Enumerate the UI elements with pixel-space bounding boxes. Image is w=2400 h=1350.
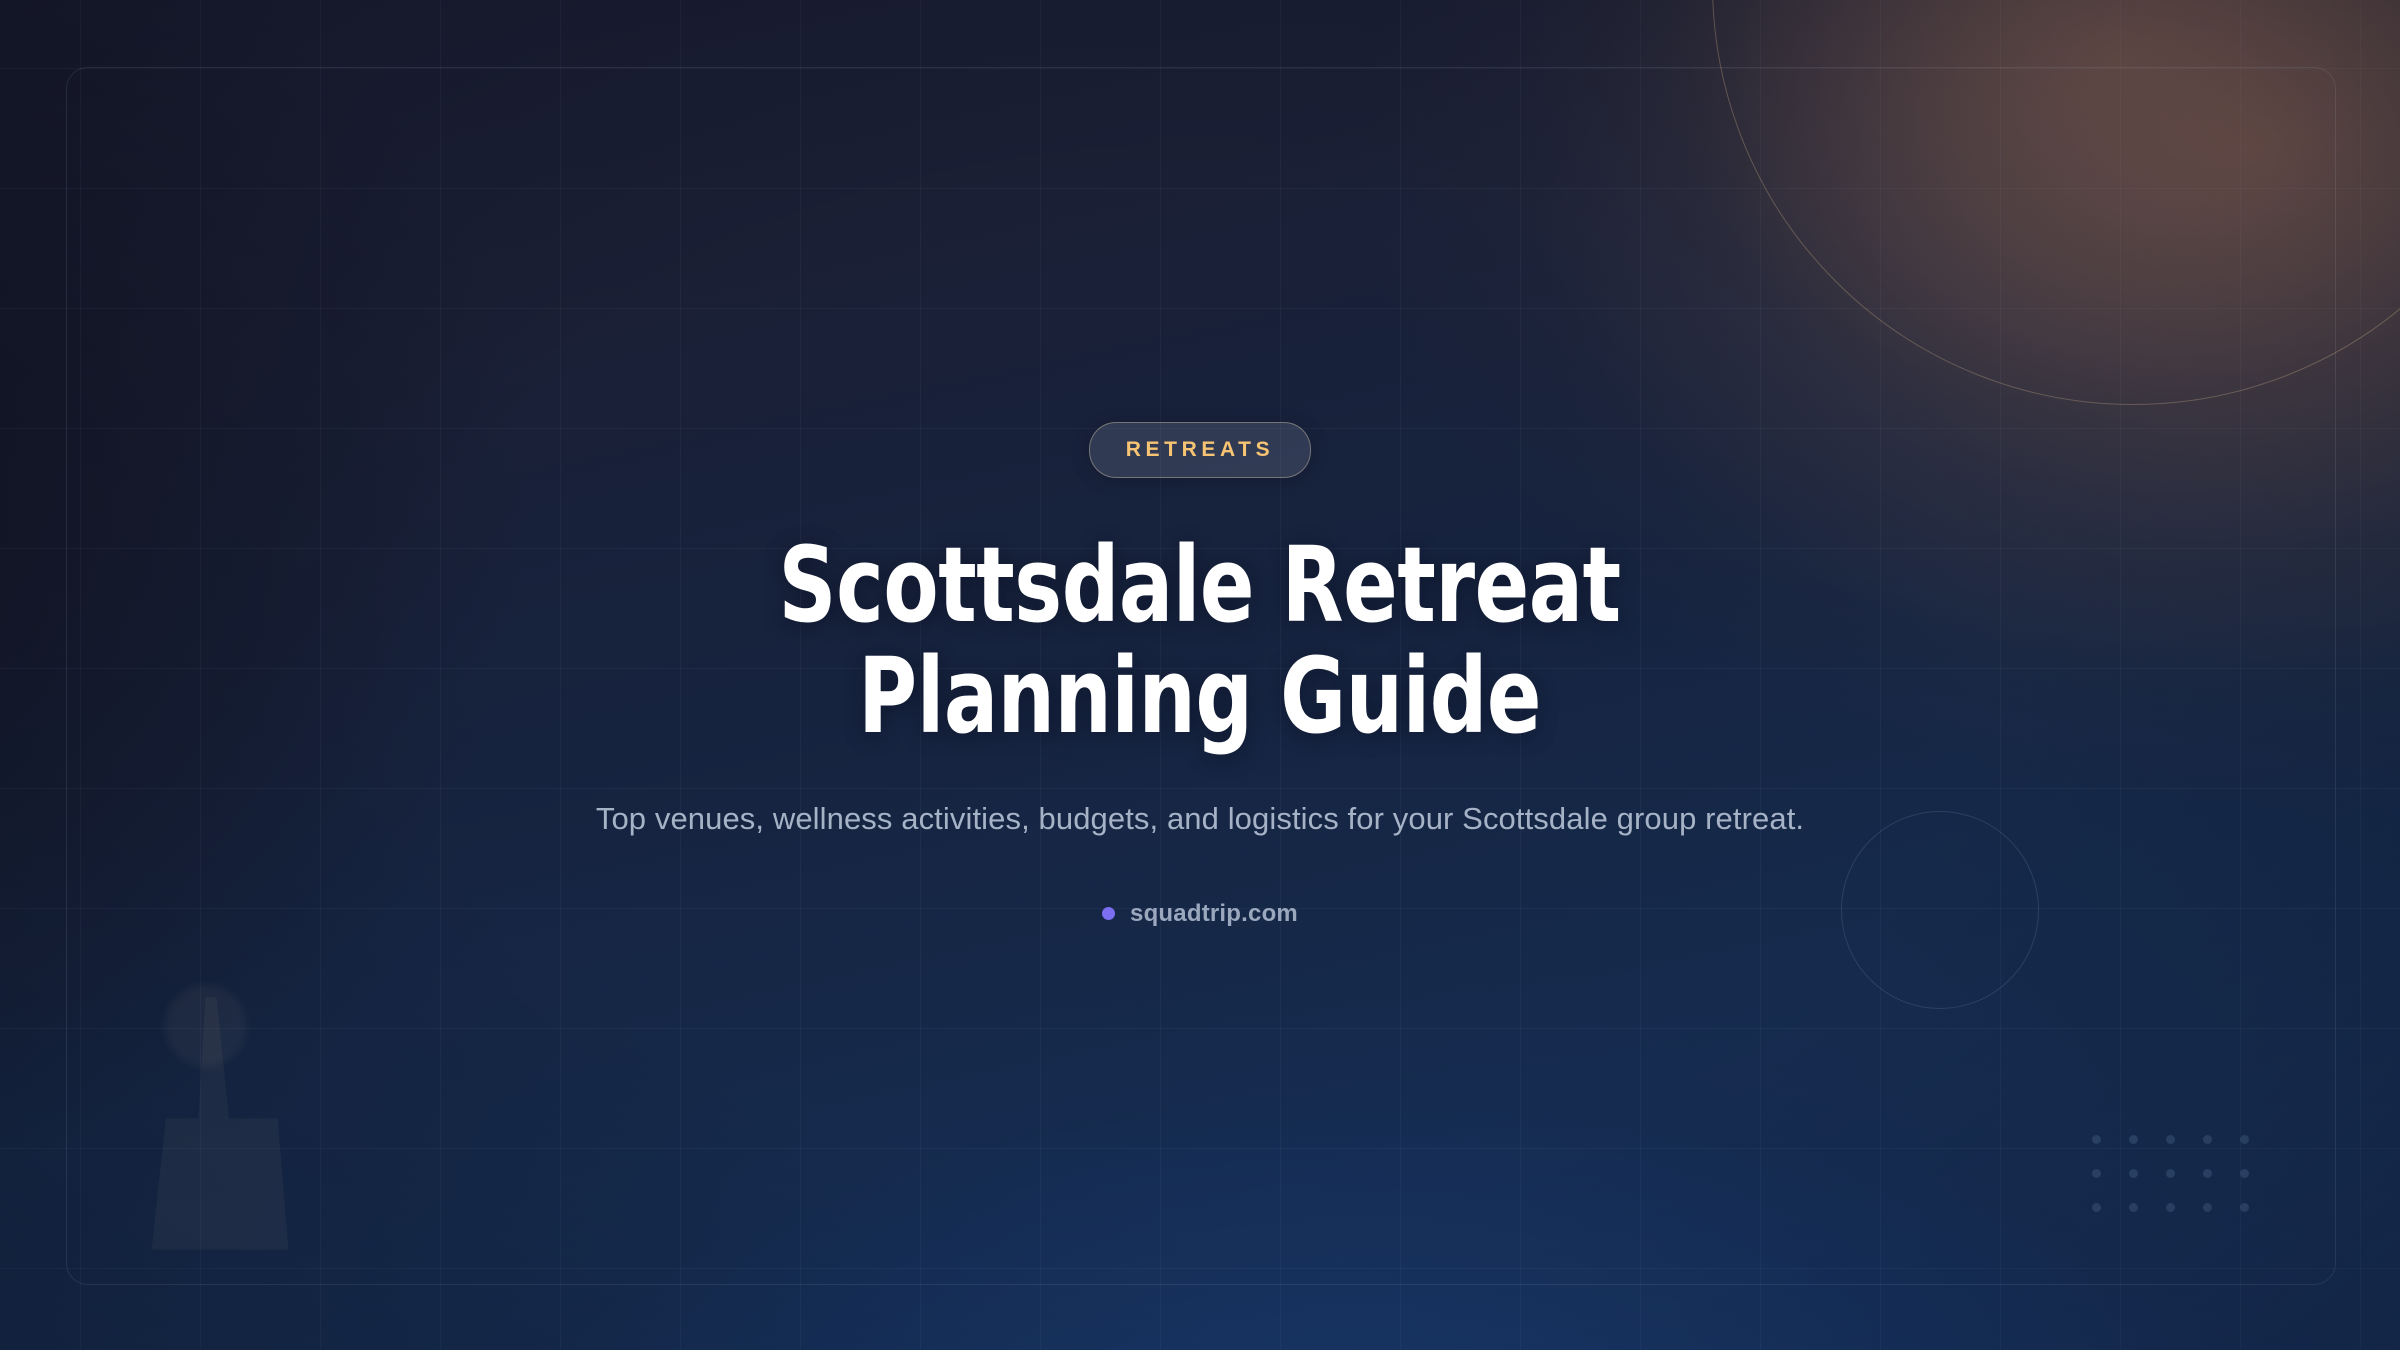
title-line-1: Scottsdale Retreat	[779, 530, 1621, 641]
category-badge[interactable]: RETREATS	[1089, 422, 1311, 478]
page-title: Scottsdale Retreat Planning Guide	[779, 530, 1621, 753]
subtitle-text: Top venues, wellness activities, budgets…	[530, 795, 1870, 842]
domain-label[interactable]: squadtrip.com	[1130, 900, 1298, 928]
footer-attribution: squadtrip.com	[1102, 900, 1298, 928]
slide-content: RETREATS Scottsdale Retreat Planning Gui…	[0, 0, 2400, 1350]
bullet-dot-icon	[1102, 907, 1115, 920]
title-line-2: Planning Guide	[779, 641, 1621, 752]
slide-canvas: RETREATS Scottsdale Retreat Planning Gui…	[0, 0, 2400, 1350]
